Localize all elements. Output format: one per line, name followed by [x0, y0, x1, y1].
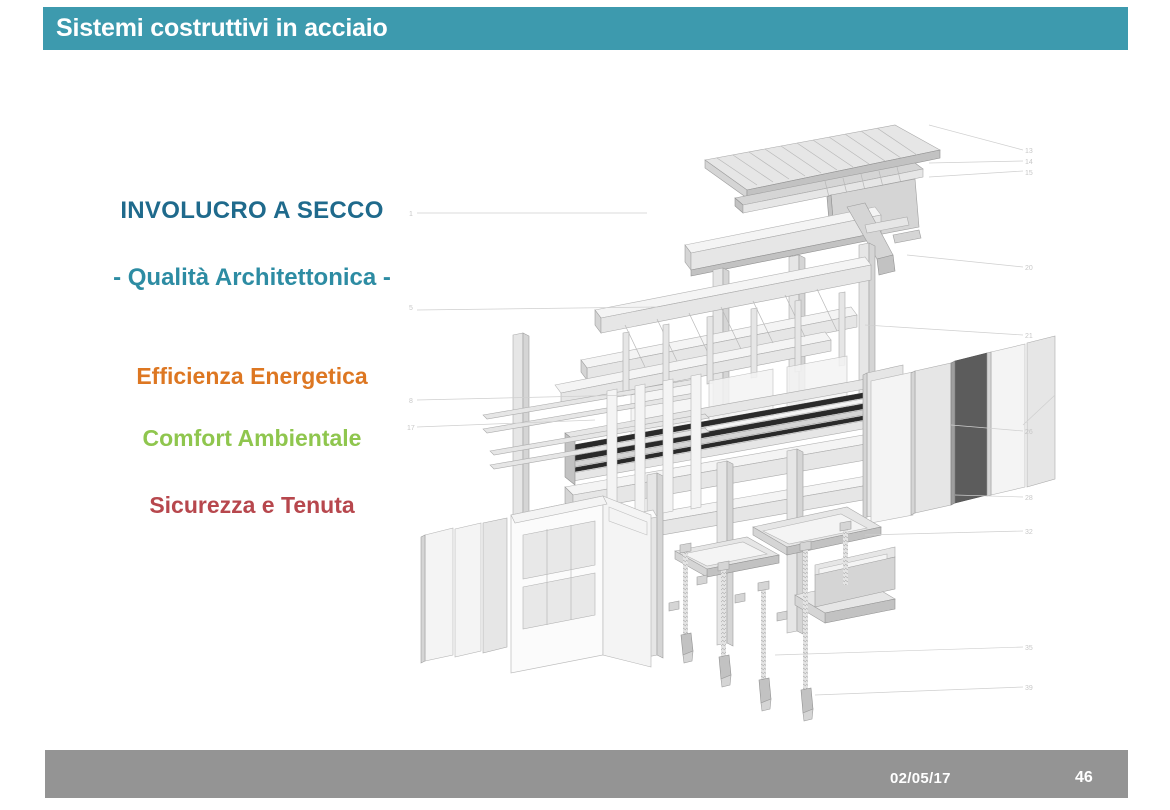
callout-20: 20 — [1025, 265, 1033, 272]
footer-page-number: 46 — [1075, 769, 1093, 787]
headline-involucro-a-secco: INVOLUCRO A SECCO — [120, 197, 383, 225]
left-cladding-layers — [421, 518, 507, 663]
callout-39: 39 — [1025, 685, 1033, 692]
callout-1: 1 — [409, 211, 413, 218]
rod-3 — [758, 581, 771, 711]
callout-21: 21 — [1025, 333, 1033, 340]
callout-14: 14 — [1025, 159, 1033, 166]
bullet-comfort-ambientale: Comfort Ambientale — [143, 425, 362, 452]
bullet-efficienza-energetica: Efficienza Energetica — [136, 363, 367, 390]
callout-15: 15 — [1025, 170, 1033, 177]
callout-35: 35 — [1025, 645, 1033, 652]
callout-26: 26 — [1025, 429, 1033, 436]
callout-8: 8 — [409, 398, 413, 405]
exploded-axonometric-diagram: .ln { stroke:#b8b8b8; stroke-width:0.7; … — [395, 95, 1095, 735]
slide-footer-bar — [45, 750, 1128, 798]
footer-date: 02/05/17 — [890, 770, 951, 787]
callout-5: 5 — [409, 305, 413, 312]
callout-28: 28 — [1025, 495, 1033, 502]
callout-32: 32 — [1025, 529, 1033, 536]
slide-title-bar: Sistemi costruttivi in acciaio — [43, 7, 1128, 50]
white-module-box — [511, 496, 657, 673]
bullet-sicurezza-e-tenuta: Sicurezza e Tenuta — [149, 492, 354, 519]
callout-17: 17 — [407, 425, 415, 432]
callout-13: 13 — [1025, 148, 1033, 155]
page-title: Sistemi costruttivi in acciaio — [56, 13, 388, 42]
slide-canvas: Sistemi costruttivi in acciaio INVOLUCRO… — [0, 0, 1170, 810]
subheadline-qualita-architettonica: - Qualità Architettonica - — [113, 264, 391, 292]
